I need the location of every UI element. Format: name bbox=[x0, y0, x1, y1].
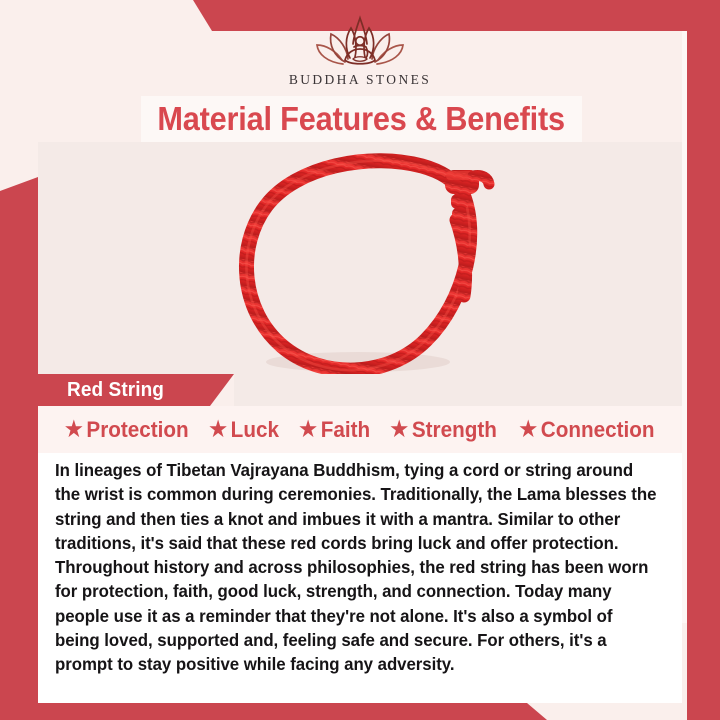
star-icon: ★ bbox=[390, 419, 408, 440]
feature-label: Faith bbox=[320, 417, 369, 443]
feature-item-strength: ★ Strength bbox=[390, 417, 496, 443]
feature-label: Strength bbox=[412, 417, 497, 443]
material-name-label: Red String bbox=[67, 379, 164, 402]
bottom-left-red-notch bbox=[0, 695, 38, 703]
feature-label: Connection bbox=[541, 417, 655, 443]
star-icon: ★ bbox=[299, 419, 317, 440]
title-band: Material Features & Benefits bbox=[141, 96, 582, 142]
right-white-gap-divider bbox=[682, 31, 687, 623]
feature-item-faith: ★ Faith bbox=[299, 417, 370, 443]
feature-item-connection: ★ Connection bbox=[520, 417, 655, 443]
description-text: In lineages of Tibetan Vajrayana Buddhis… bbox=[55, 459, 659, 678]
lotus-meditation-figure-icon bbox=[314, 14, 406, 70]
brand-wordmark: BUDDHA STONES bbox=[289, 72, 431, 88]
star-icon: ★ bbox=[65, 419, 83, 440]
material-banner-row-background bbox=[234, 374, 682, 406]
feature-label: Luck bbox=[231, 417, 279, 443]
star-icon: ★ bbox=[210, 419, 228, 440]
description-panel: In lineages of Tibetan Vajrayana Buddhis… bbox=[38, 453, 682, 703]
right-red-decorative-bar bbox=[687, 31, 720, 720]
feature-item-protection: ★ Protection bbox=[65, 417, 189, 443]
feature-label: Protection bbox=[86, 417, 188, 443]
left-red-decorative-bar bbox=[0, 177, 38, 720]
material-banner: Red String bbox=[38, 374, 234, 406]
features-row: ★ Protection ★ Luck ★ Faith ★ Strength ★… bbox=[38, 406, 682, 453]
page-title: Material Features & Benefits bbox=[158, 100, 566, 138]
red-braided-string-bracelet-icon bbox=[230, 150, 496, 390]
star-icon: ★ bbox=[520, 419, 538, 440]
feature-item-luck: ★ Luck bbox=[210, 417, 280, 443]
brand-header: BUDDHA STONES bbox=[0, 0, 720, 95]
bottom-red-decorative-band bbox=[0, 703, 720, 720]
